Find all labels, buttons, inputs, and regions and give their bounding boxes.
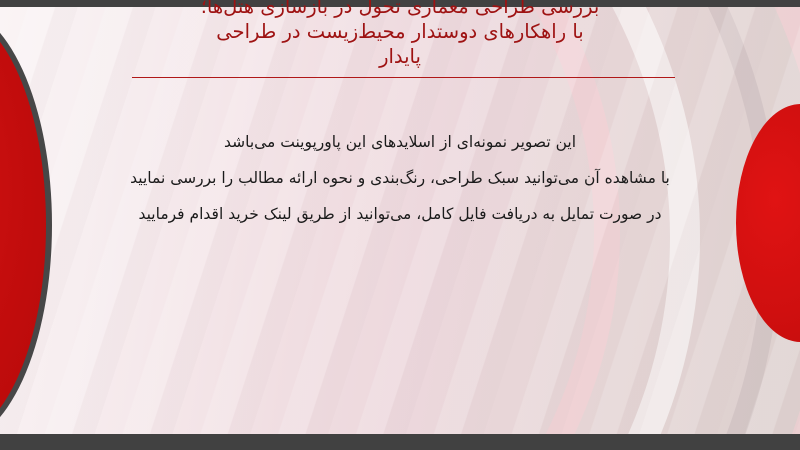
slide-body-text: این تصویر نمونه‌ای از اسلایدهای این پاور… <box>22 124 778 232</box>
body-line-1: این تصویر نمونه‌ای از اسلایدهای این پاور… <box>22 124 778 160</box>
title-line-1: بررسی طراحی معماری تحول در بازسازی هتل‌ه… <box>122 0 678 19</box>
slide-content: بررسی طراحی معماری تحول در بازسازی هتل‌ه… <box>0 0 800 450</box>
body-line-2: با مشاهده آن می‌توانید سبک طراحی، رنگ‌بن… <box>22 160 778 196</box>
presentation-slide: بررسی طراحی معماری تحول در بازسازی هتل‌ه… <box>0 0 800 450</box>
title-divider <box>132 77 675 78</box>
title-line-2: با راهکارهای دوستدار محیط‌زیست در طراحی <box>122 19 678 44</box>
title-line-3: پایدار <box>122 44 678 69</box>
slide-title: بررسی طراحی معماری تحول در بازسازی هتل‌ه… <box>122 0 678 69</box>
body-line-3: در صورت تمایل به دریافت فایل کامل، می‌تو… <box>22 196 778 232</box>
